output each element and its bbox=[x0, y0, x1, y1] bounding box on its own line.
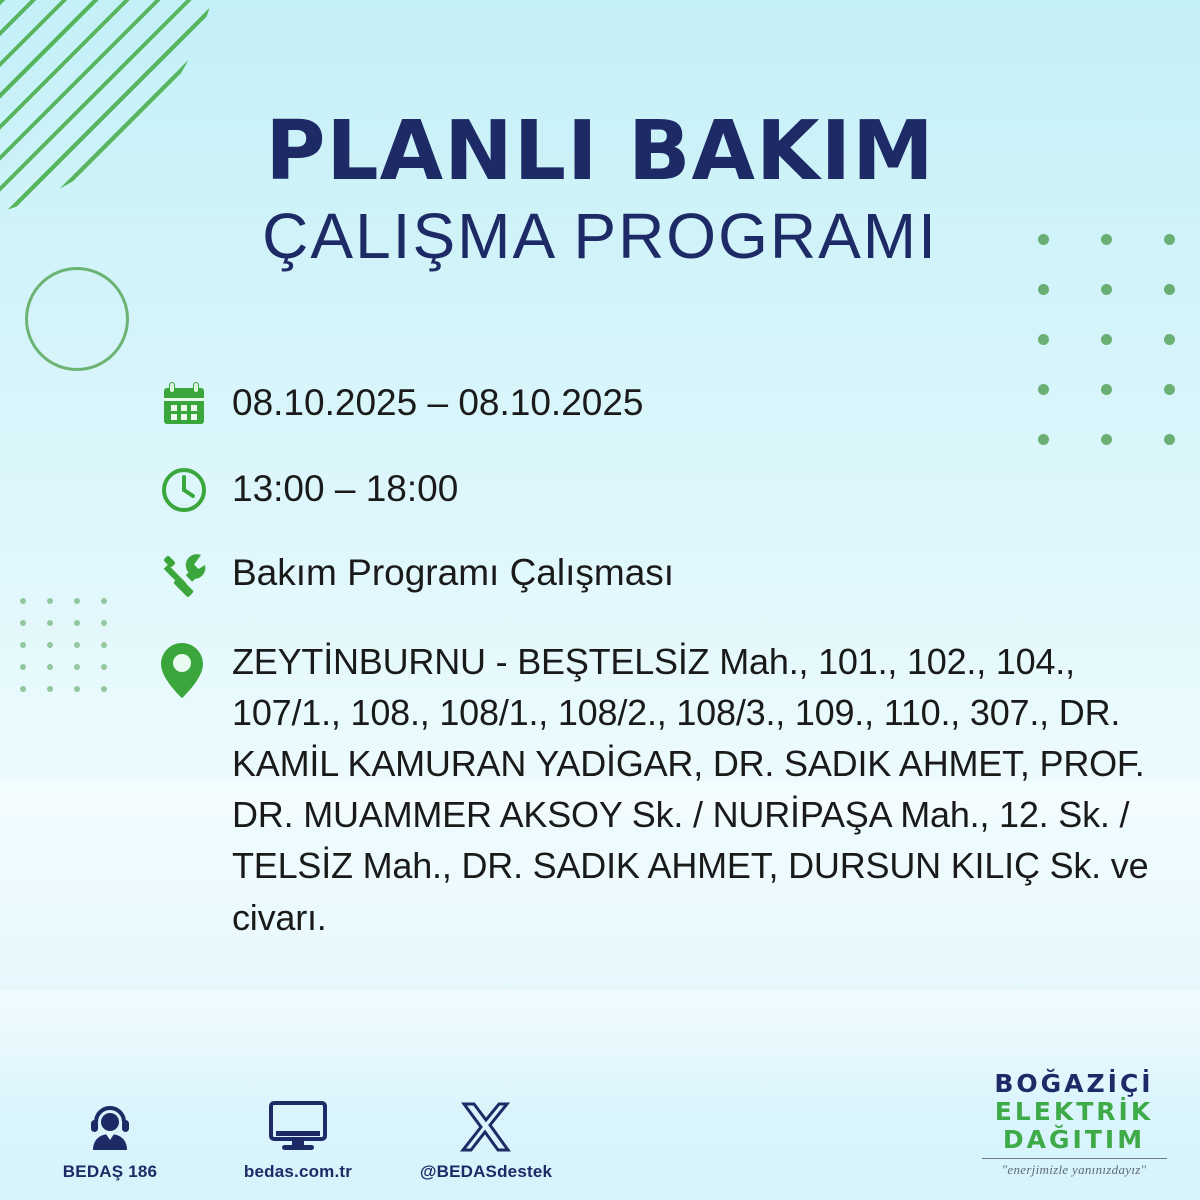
detail-row-date: 08.10.2025 – 08.10.2025 bbox=[160, 378, 1180, 428]
dot bbox=[20, 642, 26, 648]
headset-operator-icon bbox=[40, 1092, 180, 1154]
monitor-icon bbox=[228, 1092, 368, 1154]
detail-row-address: ZEYTİNBURNU - BEŞTELSİZ Mah., 101., 102.… bbox=[160, 636, 1180, 943]
dot bbox=[1164, 334, 1175, 345]
contact-call-center[interactable]: BEDAŞ 186 bbox=[40, 1092, 180, 1182]
dot bbox=[101, 664, 107, 670]
dot bbox=[20, 686, 26, 692]
dot bbox=[74, 664, 80, 670]
dot bbox=[1164, 284, 1175, 295]
contact-label: @BEDASdestek bbox=[416, 1162, 556, 1182]
circle-outline-decoration bbox=[25, 267, 129, 371]
bedas-logo: BOĞAZİÇİ ELEKTRİK DAĞITIM "enerjimizle y… bbox=[974, 1070, 1174, 1178]
dot bbox=[74, 642, 80, 648]
dot bbox=[20, 620, 26, 626]
logo-line-dagitim: DAĞITIM bbox=[974, 1126, 1174, 1154]
contact-website[interactable]: bedas.com.tr bbox=[228, 1092, 368, 1182]
page-title: PLANLI BAKIM bbox=[0, 112, 1200, 192]
time-range-value: 13:00 – 18:00 bbox=[232, 464, 1180, 507]
detail-row-work-type: Bakım Programı Çalışması bbox=[160, 548, 1180, 600]
dot bbox=[1038, 284, 1049, 295]
dot bbox=[101, 620, 107, 626]
dot bbox=[47, 620, 53, 626]
dot bbox=[1101, 284, 1112, 295]
logo-tagline: "enerjimizle yanınızdayız" bbox=[974, 1162, 1174, 1178]
dot bbox=[74, 686, 80, 692]
calendar-icon bbox=[160, 378, 232, 428]
dot bbox=[47, 598, 53, 604]
dot bbox=[20, 598, 26, 604]
dot-grid-left-decoration bbox=[20, 598, 128, 708]
contact-label: bedas.com.tr bbox=[228, 1162, 368, 1182]
page-subtitle: ÇALIŞMA PROGRAMI bbox=[0, 204, 1200, 268]
contact-x-social[interactable]: @BEDASdestek bbox=[416, 1092, 556, 1182]
footer-contacts: BEDAŞ 186 bedas.com.tr @BEDASdestek bbox=[40, 1092, 556, 1182]
dot bbox=[47, 686, 53, 692]
work-type-value: Bakım Programı Çalışması bbox=[232, 548, 1180, 591]
logo-line-elektrik: ELEKTRİK bbox=[974, 1098, 1174, 1126]
x-twitter-icon bbox=[416, 1092, 556, 1154]
date-range-value: 08.10.2025 – 08.10.2025 bbox=[232, 378, 1180, 421]
dot bbox=[1038, 334, 1049, 345]
detail-row-time: 13:00 – 18:00 bbox=[160, 464, 1180, 514]
dot bbox=[20, 664, 26, 670]
logo-line-bogazici: BOĞAZİÇİ bbox=[974, 1070, 1174, 1098]
dot bbox=[74, 620, 80, 626]
clock-icon bbox=[160, 464, 232, 514]
poster-header: PLANLI BAKIM ÇALIŞMA PROGRAMI bbox=[0, 112, 1200, 268]
dot bbox=[1101, 334, 1112, 345]
address-value: ZEYTİNBURNU - BEŞTELSİZ Mah., 101., 102.… bbox=[232, 636, 1180, 943]
dot bbox=[47, 664, 53, 670]
location-pin-icon bbox=[160, 636, 232, 700]
dot bbox=[101, 598, 107, 604]
dot bbox=[74, 598, 80, 604]
logo-divider bbox=[982, 1158, 1167, 1159]
maintenance-details: 08.10.2025 – 08.10.2025 13:00 – 18:00 bbox=[160, 378, 1180, 943]
dot bbox=[101, 686, 107, 692]
dot bbox=[101, 642, 107, 648]
contact-label: BEDAŞ 186 bbox=[40, 1162, 180, 1182]
tools-icon bbox=[160, 548, 232, 600]
planned-maintenance-poster: PLANLI BAKIM ÇALIŞMA PROGRAMI bbox=[0, 0, 1200, 1200]
dot bbox=[47, 642, 53, 648]
